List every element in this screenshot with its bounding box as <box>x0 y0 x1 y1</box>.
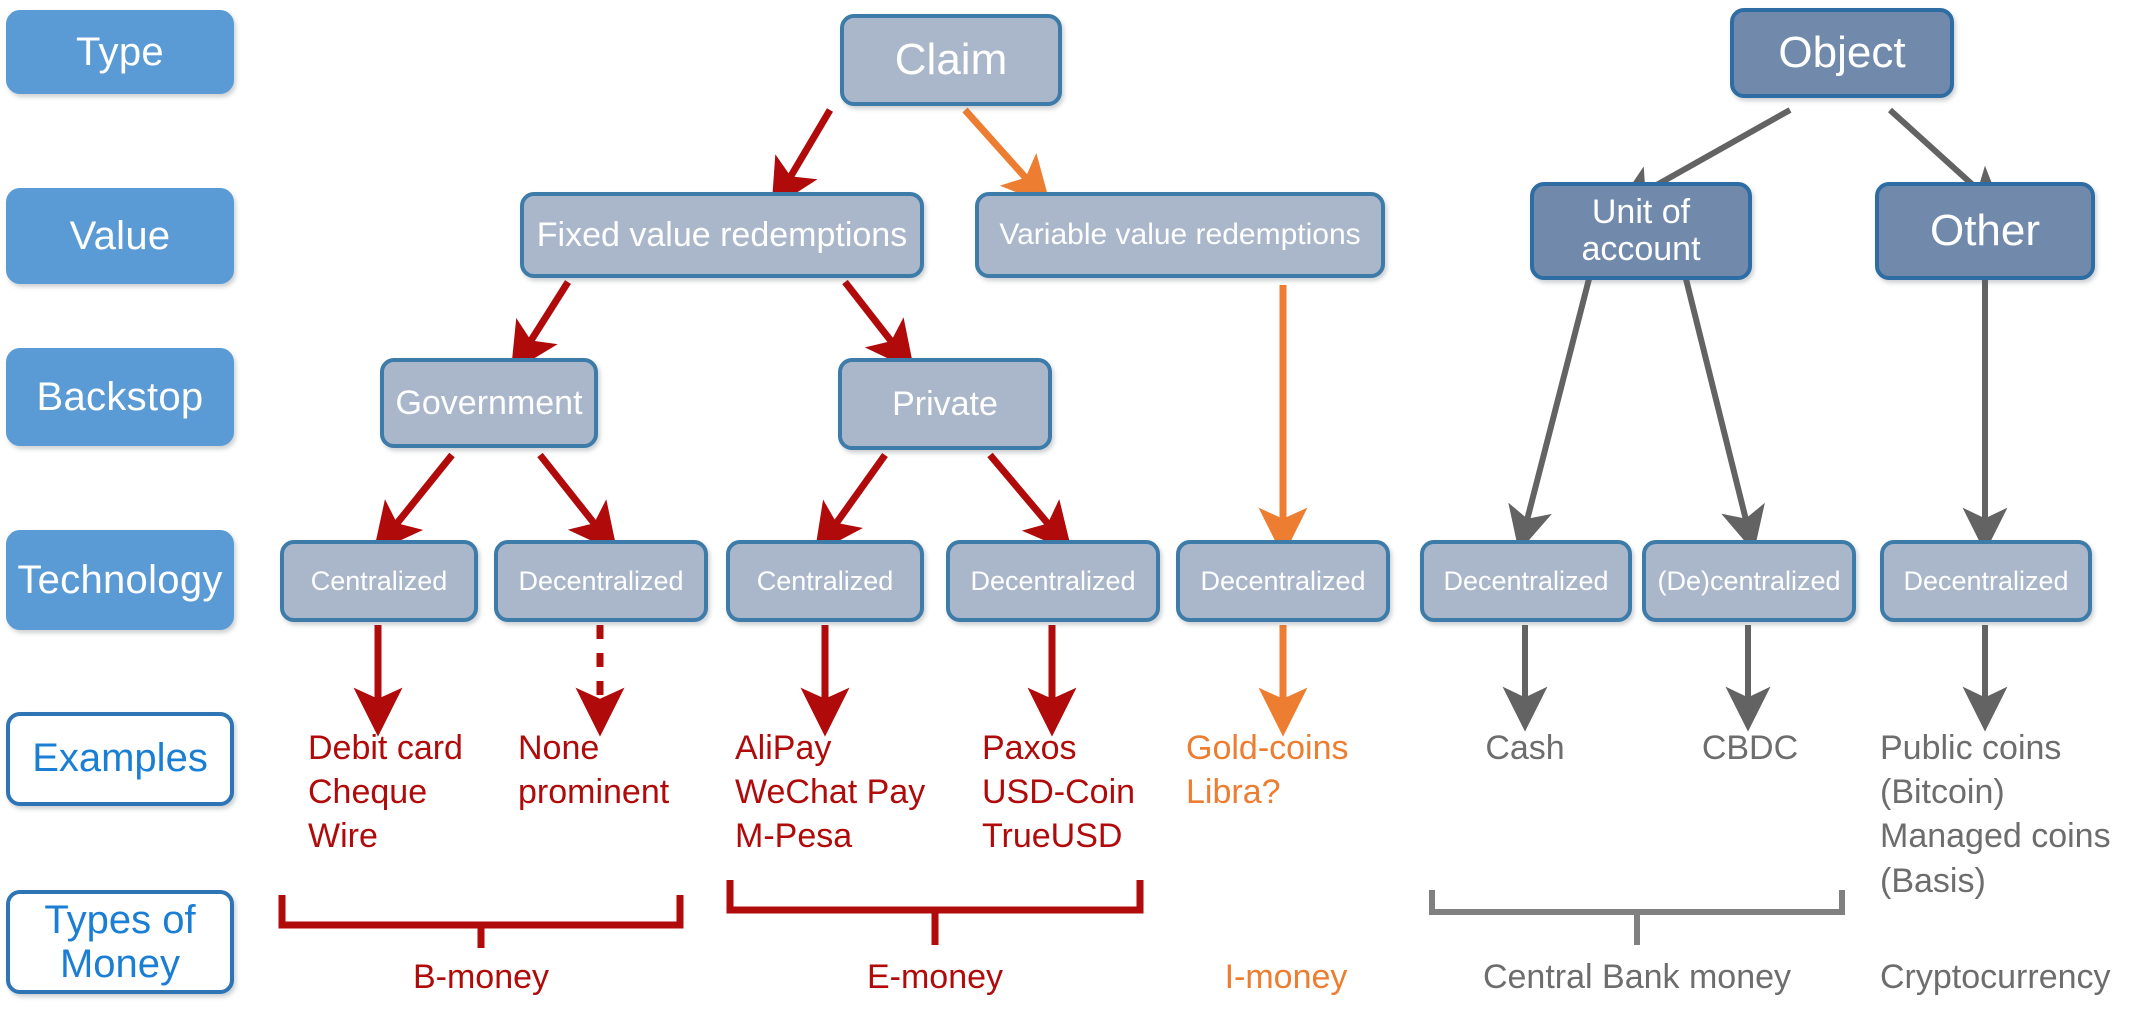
arrow-government-to-centralized <box>390 455 452 532</box>
row-label-type[interactable]: Type <box>6 10 234 94</box>
examples-cbdc: CBDC <box>1660 726 1840 770</box>
arrow-uoa-to-de-centralized <box>1685 275 1748 528</box>
row-label-types-of-money[interactable]: Types of Money <box>6 890 234 994</box>
node-private[interactable]: Private <box>838 358 1052 450</box>
examples-alipay: AliPay WeChat Pay M-Pesa <box>735 726 985 859</box>
arrow-fixed-to-private <box>845 282 898 350</box>
examples-debit-card: Debit card Cheque Wire <box>308 726 528 859</box>
node-tech-variable-decentralized[interactable]: Decentralized <box>1176 540 1390 622</box>
arrow-private-to-decentralized <box>990 455 1055 532</box>
connector-layer <box>0 0 2145 1033</box>
node-tech-priv-decentralized[interactable]: Decentralized <box>946 540 1160 622</box>
diagram-canvas: Type Value Backstop Technology Examples … <box>0 0 2145 1033</box>
brace-central-bank-money <box>1432 890 1842 945</box>
node-tech-gov-decentralized[interactable]: Decentralized <box>494 540 708 622</box>
money-type-central-bank-money: Central Bank money <box>1457 955 1817 999</box>
node-variable-value-redemptions[interactable]: Variable value redemptions <box>975 192 1385 278</box>
arrow-uoa-to-decentralized <box>1525 275 1590 528</box>
arrow-claim-to-fixed <box>785 110 830 186</box>
node-object[interactable]: Object <box>1730 8 1954 98</box>
node-tech-uoa-decentralized[interactable]: Decentralized <box>1420 540 1632 622</box>
row-label-value[interactable]: Value <box>6 188 234 284</box>
node-government[interactable]: Government <box>380 358 598 448</box>
row-label-backstop[interactable]: Backstop <box>6 348 234 446</box>
node-tech-gov-centralized[interactable]: Centralized <box>280 540 478 622</box>
arrow-claim-to-variable <box>965 110 1033 186</box>
node-tech-other-decentralized[interactable]: Decentralized <box>1880 540 2092 622</box>
money-type-e-money: E-money <box>835 955 1035 999</box>
node-tech-priv-centralized[interactable]: Centralized <box>726 540 924 622</box>
examples-cash: Cash <box>1435 726 1615 770</box>
examples-public-coins: Public coins (Bitcoin) Managed coins (Ba… <box>1880 726 2145 903</box>
arrow-fixed-to-government <box>525 282 568 350</box>
node-fixed-value-redemptions[interactable]: Fixed value redemptions <box>520 192 924 278</box>
money-type-i-money: I-money <box>1186 955 1386 999</box>
node-other[interactable]: Other <box>1875 182 2095 280</box>
examples-gold-coins: Gold-coins Libra? <box>1186 726 1416 814</box>
node-unit-of-account[interactable]: Unit of account <box>1530 182 1752 280</box>
examples-none-prominent: None prominent <box>518 726 738 814</box>
row-label-examples[interactable]: Examples <box>6 712 234 806</box>
brace-e-money <box>730 880 1140 945</box>
arrow-government-to-decentralized <box>540 455 601 532</box>
money-type-b-money: B-money <box>381 955 581 999</box>
node-claim[interactable]: Claim <box>840 14 1062 106</box>
arrow-private-to-centralized <box>830 455 885 532</box>
node-tech-uoa-de-centralized[interactable]: (De)centralized <box>1642 540 1856 622</box>
brace-b-money <box>282 895 680 948</box>
row-label-technology[interactable]: Technology <box>6 530 234 630</box>
money-type-cryptocurrency: Cryptocurrency <box>1880 955 2145 999</box>
